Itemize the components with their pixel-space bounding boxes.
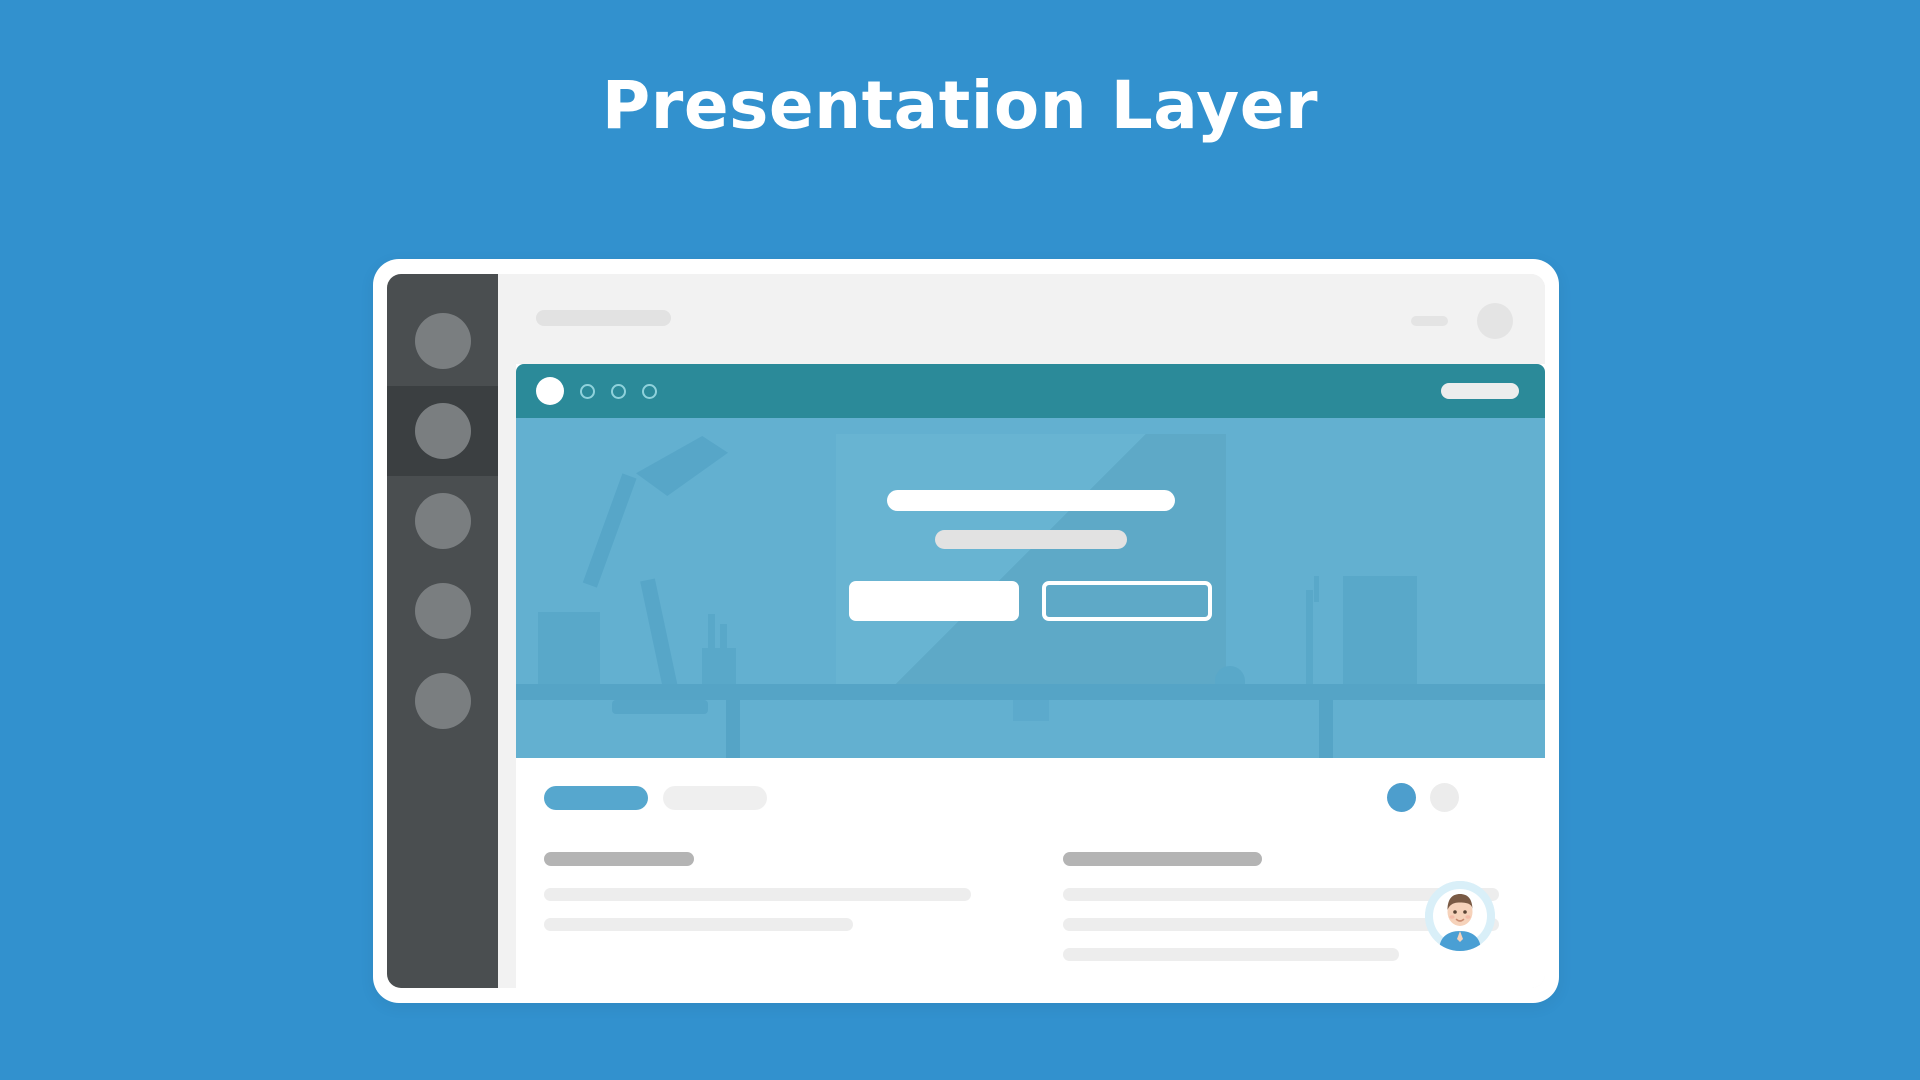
text-line xyxy=(1063,948,1399,961)
pager-dots xyxy=(1387,783,1459,812)
sidebar-item-1[interactable] xyxy=(387,296,498,386)
screenshot-stage: Presentation Layer xyxy=(0,0,1920,1080)
device-screen xyxy=(387,274,1545,988)
desk-leg-left xyxy=(726,700,740,758)
pen-icon xyxy=(720,624,727,654)
hero-copy xyxy=(516,490,1545,621)
circle-icon xyxy=(415,403,471,459)
desk-lamp-base xyxy=(612,700,708,714)
text-line xyxy=(544,888,971,901)
close-circle-icon[interactable] xyxy=(1477,303,1513,339)
hero-heading-placeholder xyxy=(887,490,1175,511)
circle-icon xyxy=(415,673,471,729)
browser-dot-1-icon[interactable] xyxy=(580,384,595,399)
content-columns xyxy=(544,852,1517,978)
column-title-placeholder xyxy=(1063,852,1263,866)
text-line xyxy=(544,918,853,931)
tab-active[interactable] xyxy=(544,786,648,810)
avatar-illustration-icon xyxy=(1425,881,1495,951)
browser-window xyxy=(516,364,1545,988)
storage-box-left-icon xyxy=(538,612,600,684)
sidebar-item-5[interactable] xyxy=(387,656,498,746)
tab-inactive[interactable] xyxy=(663,786,767,810)
app-topbar xyxy=(498,274,1545,364)
desk-surface xyxy=(516,684,1545,700)
circle-icon xyxy=(415,313,471,369)
address-bar[interactable] xyxy=(1441,383,1519,399)
device-frame xyxy=(373,259,1559,1003)
minimize-icon[interactable] xyxy=(1411,316,1448,326)
page-title: Presentation Layer xyxy=(0,70,1920,143)
desk-lamp-head-icon xyxy=(636,436,728,496)
desk-ball-icon xyxy=(1215,666,1245,684)
desk-leg-right xyxy=(1319,700,1333,758)
sidebar-item-3[interactable] xyxy=(387,476,498,566)
hero-secondary-button[interactable] xyxy=(1042,581,1212,621)
pager-dot-1[interactable] xyxy=(1387,783,1416,812)
browser-chrome xyxy=(516,364,1545,418)
circle-icon xyxy=(415,583,471,639)
content-column-left xyxy=(544,852,999,978)
sidebar-item-4[interactable] xyxy=(387,566,498,656)
content-area xyxy=(516,758,1545,988)
sidebar-item-2[interactable] xyxy=(387,386,498,476)
app-main xyxy=(498,274,1545,988)
browser-dot-active-icon[interactable] xyxy=(536,377,564,405)
hero-primary-button[interactable] xyxy=(849,581,1019,621)
hero-button-group xyxy=(849,581,1212,621)
column-title-placeholder xyxy=(544,852,694,866)
pager-dot-2[interactable] xyxy=(1430,783,1459,812)
app-title-placeholder xyxy=(536,310,671,326)
pen-cup-icon xyxy=(702,648,736,684)
hero-subheading-placeholder xyxy=(935,530,1127,549)
hero-banner xyxy=(516,418,1545,758)
user-avatar[interactable] xyxy=(1425,881,1495,951)
browser-dot-2-icon[interactable] xyxy=(611,384,626,399)
app-sidebar xyxy=(387,274,498,988)
tab-row xyxy=(544,786,767,810)
circle-icon xyxy=(415,493,471,549)
browser-dot-3-icon[interactable] xyxy=(642,384,657,399)
